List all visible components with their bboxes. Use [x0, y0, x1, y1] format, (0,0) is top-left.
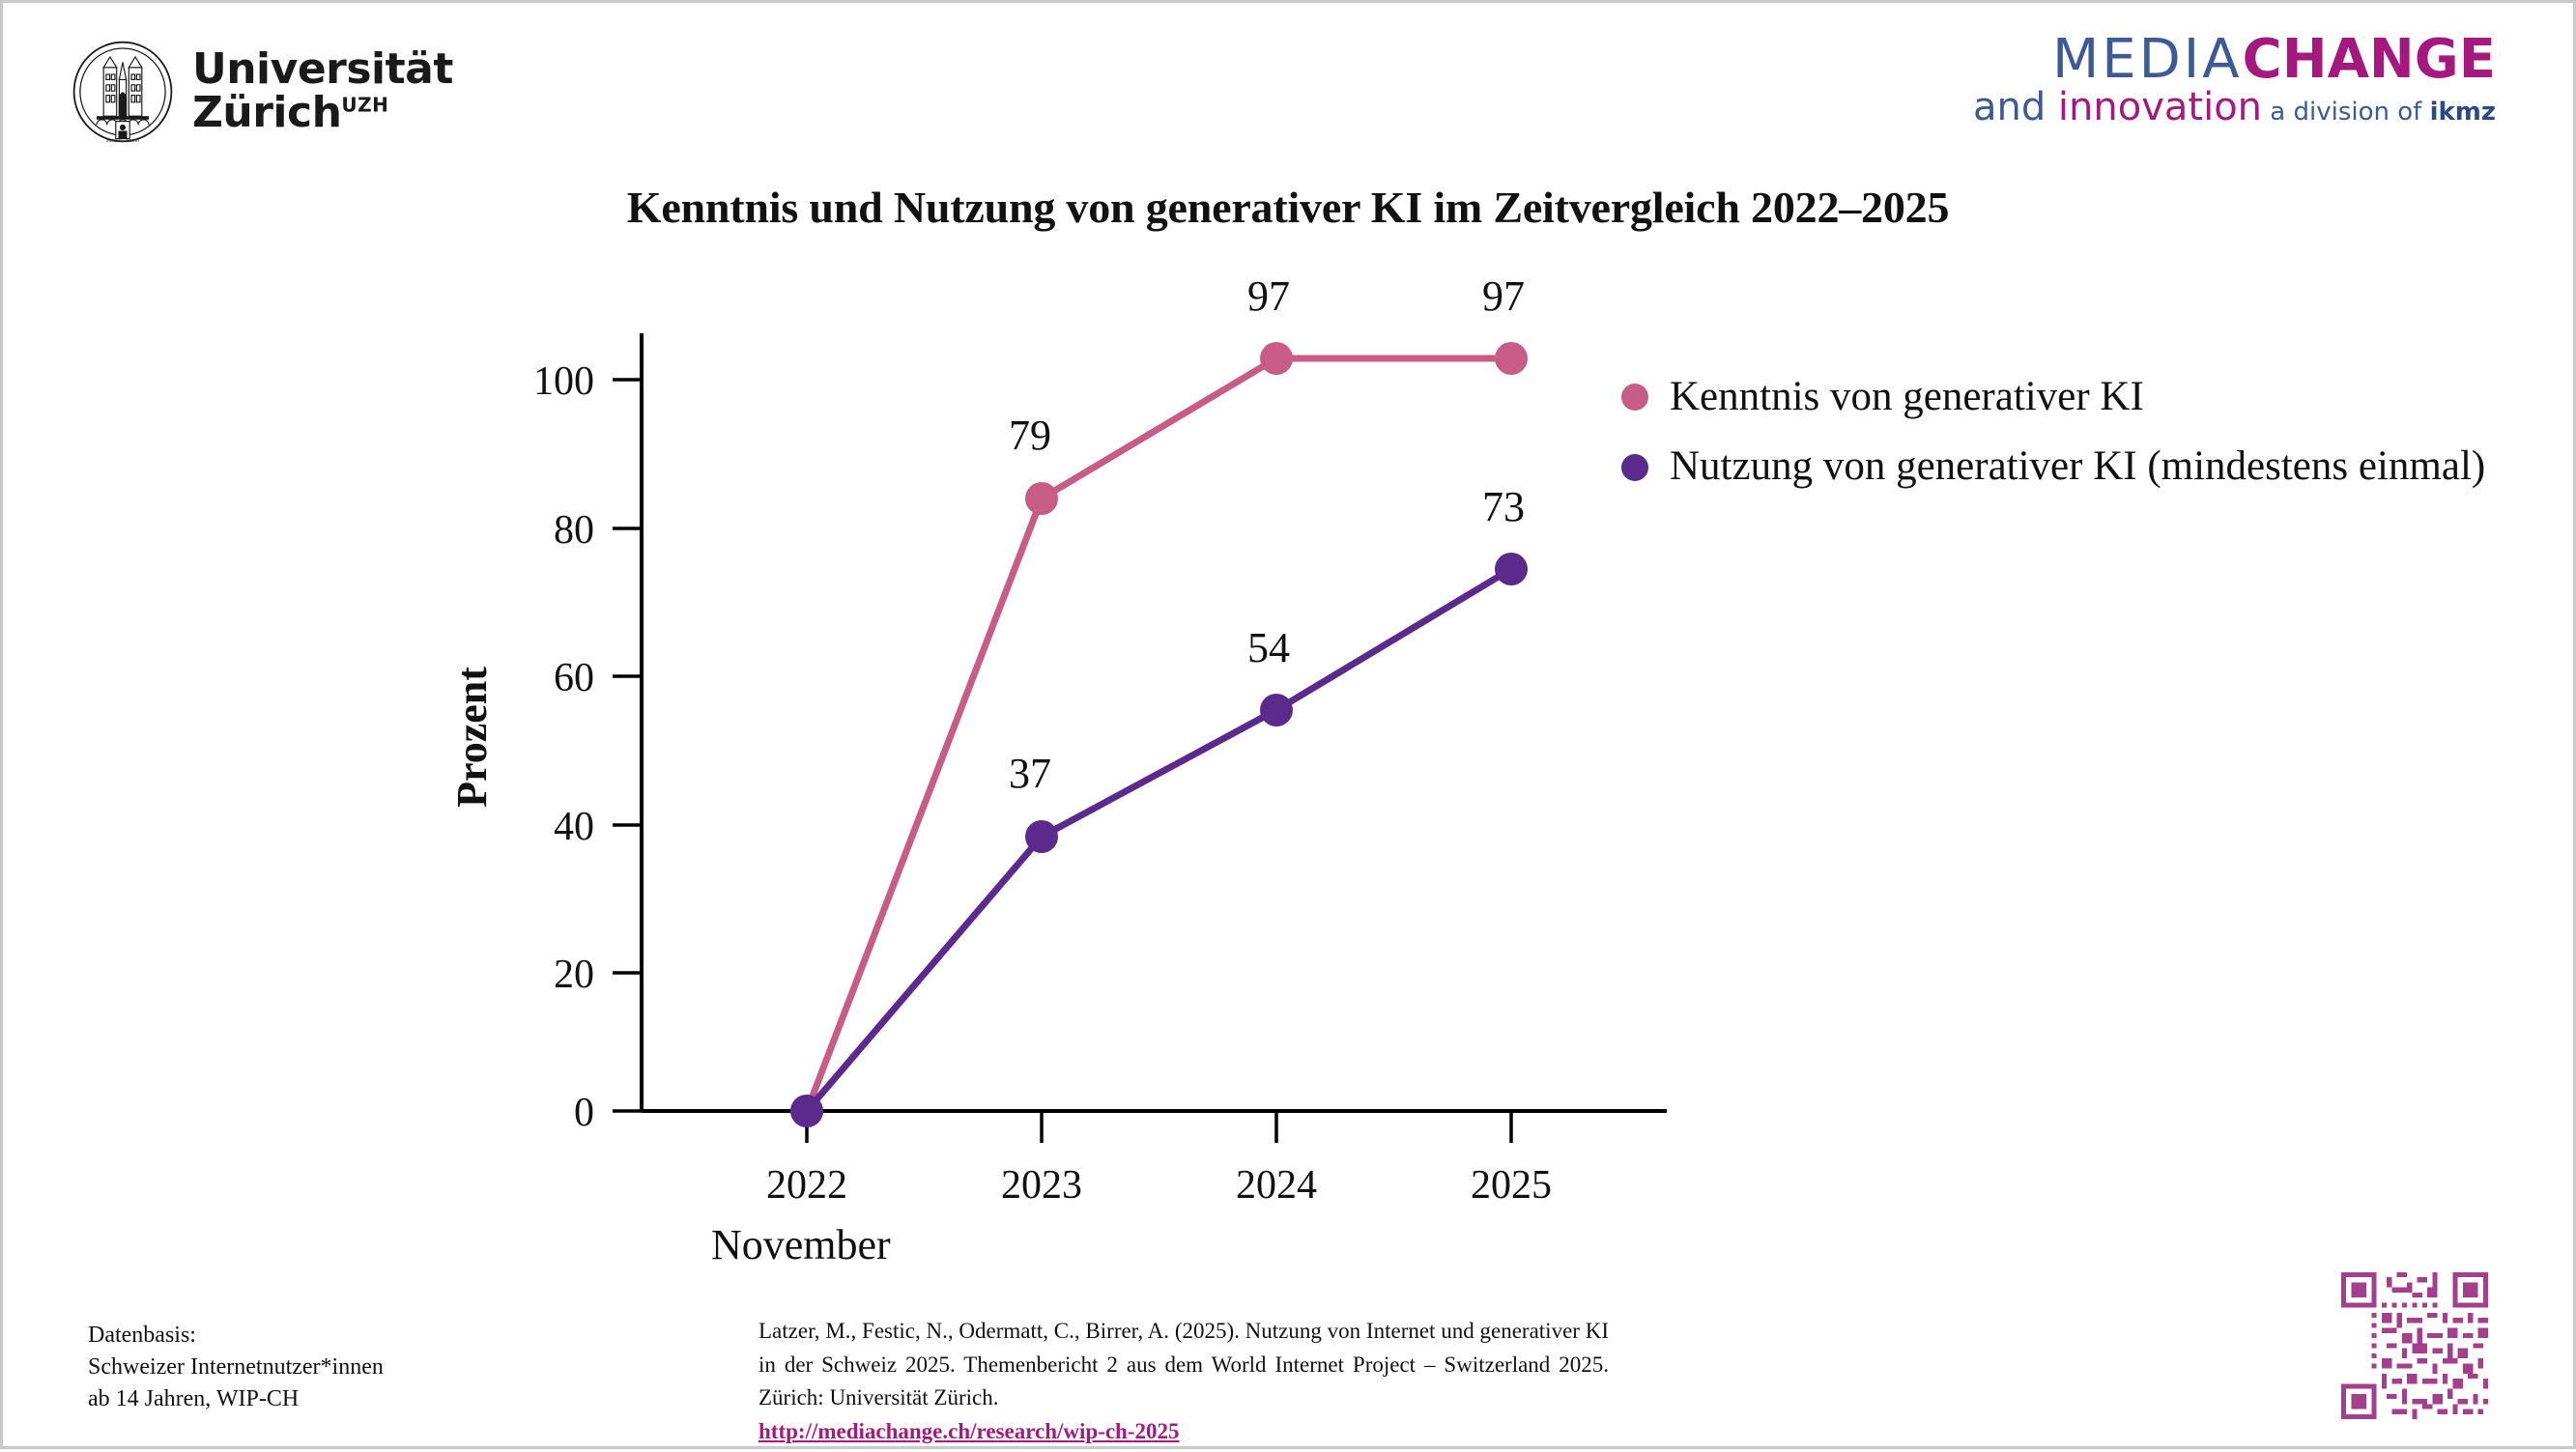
x-axis-ticks [807, 1111, 1511, 1143]
legend-label-kenntnis: Kenntnis von generativer KI [1670, 375, 2144, 419]
data-point-kenntnis-2024 [1260, 342, 1293, 375]
data-label-kenntnis-2023: 79 [1009, 412, 1051, 459]
y-tick-label-100: 100 [533, 359, 594, 404]
x-axis-tick-labels: 2022 2023 2024 2025 [766, 1163, 1552, 1208]
legend-item-kenntnis[interactable]: Kenntnis von generativer KI [1621, 375, 2485, 419]
x-tick-label-2022: 2022 [766, 1163, 847, 1208]
data-point-kenntnis-2023 [1025, 482, 1058, 515]
y-tick-label-20: 20 [554, 953, 594, 997]
x-axis-caption: November [711, 1221, 891, 1268]
datenbasis-line-2: Schweizer Internetnutzer*innen [88, 1352, 384, 1383]
y-axis-title: Prozent [448, 667, 496, 808]
legend-label-nutzung: Nutzung von generativer KI (mindestens e… [1670, 444, 2485, 489]
y-axis-ticks [613, 380, 642, 1111]
datenbasis-line-1: Datenbasis: [88, 1320, 384, 1352]
data-label-kenntnis-2025: 97 [1482, 272, 1525, 320]
x-tick-label-2024: 2024 [1236, 1163, 1317, 1208]
chart-plot-area: 100 80 60 40 20 0 Prozent 2022 2023 2024… [3, 3, 2576, 1452]
legend-item-nutzung[interactable]: Nutzung von generativer KI (mindestens e… [1621, 444, 2485, 489]
y-tick-label-40: 40 [554, 805, 594, 849]
data-point-nutzung-2023 [1025, 820, 1058, 853]
data-point-nutzung-2025 [1495, 553, 1528, 585]
datenbasis-line-3: ab 14 Jahren, WIP-CH [88, 1383, 384, 1415]
data-label-kenntnis-2024: 97 [1247, 272, 1290, 320]
y-tick-label-0: 0 [574, 1091, 594, 1135]
slide-root: MDCCC · XXXIII Universität ZürichUZH MED… [0, 0, 2576, 1449]
y-tick-label-80: 80 [554, 508, 594, 553]
data-point-kenntnis-2025 [1495, 342, 1528, 375]
line-chart-svg: 100 80 60 40 20 0 Prozent 2022 2023 2024… [3, 3, 2576, 1452]
x-tick-label-2025: 2025 [1471, 1163, 1552, 1208]
legend-marker-kenntnis-icon [1621, 384, 1648, 411]
citation-block: Latzer, M., Festic, N., Odermatt, C., Bi… [758, 1315, 1609, 1448]
data-label-nutzung-2025: 73 [1482, 483, 1525, 530]
y-tick-label-60: 60 [554, 656, 594, 700]
y-axis-tick-labels: 100 80 60 40 20 0 [533, 359, 594, 1135]
citation-url-link[interactable]: http://mediachange.ch/research/wip-ch-20… [758, 1415, 1609, 1449]
x-tick-label-2023: 2023 [1001, 1163, 1082, 1208]
chart-legend: Kenntnis von generativer KI Nutzung von … [1621, 375, 2485, 515]
data-label-nutzung-2024: 54 [1247, 624, 1290, 671]
legend-marker-nutzung-icon [1621, 454, 1648, 481]
datenbasis-block: Datenbasis: Schweizer Internetnutzer*inn… [88, 1320, 384, 1415]
data-point-nutzung-2022 [790, 1095, 823, 1127]
qr-code-icon[interactable] [2341, 1272, 2488, 1419]
data-label-nutzung-2023: 37 [1009, 750, 1051, 797]
data-point-nutzung-2024 [1260, 694, 1293, 726]
series-nutzung: 37 54 73 [790, 483, 1528, 1127]
